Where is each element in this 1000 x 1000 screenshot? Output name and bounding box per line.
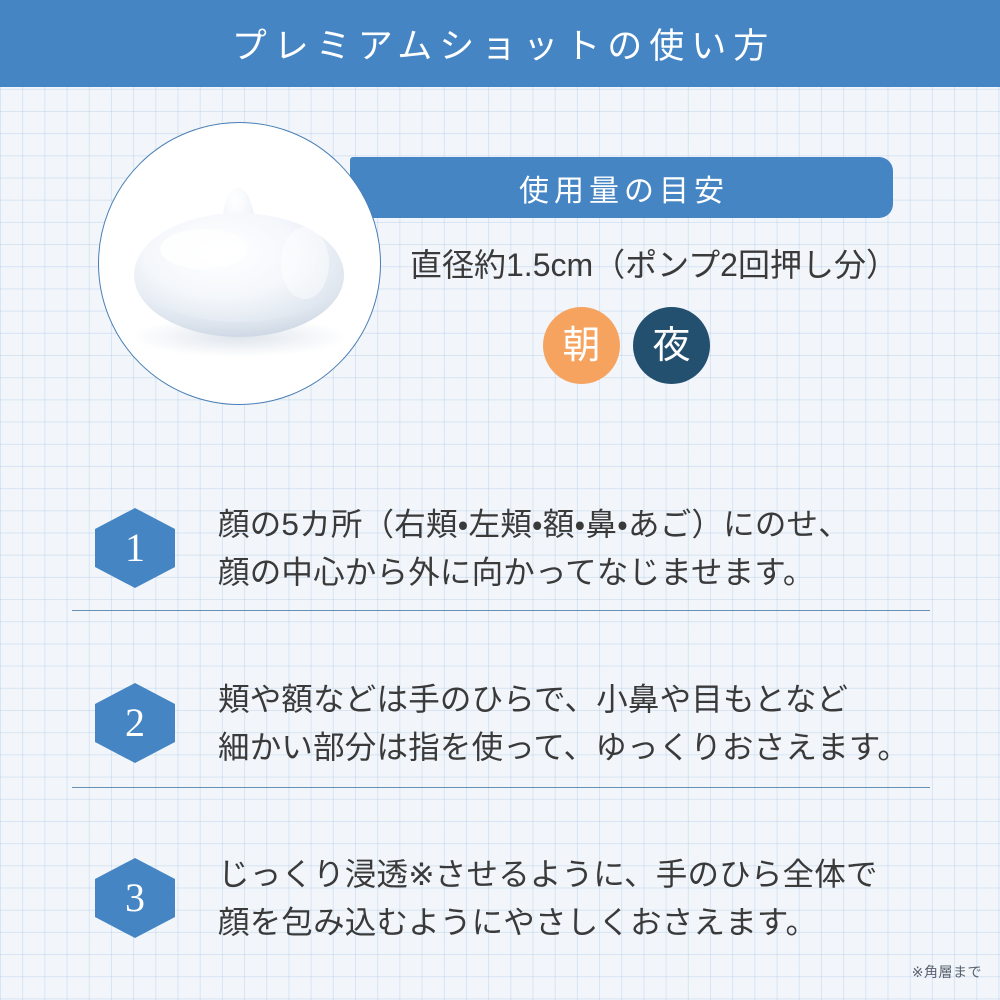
step-number: 3 <box>95 858 175 938</box>
dose-banner-title: 使用量の目安 <box>514 166 729 210</box>
dose-banner: 使用量の目安 <box>350 157 893 218</box>
dose-note: 直径約1.5cm（ポンプ2回押し分） <box>410 240 880 286</box>
cream-dollop-icon <box>99 123 380 404</box>
steps-list: 1 顔の5カ所（右頬・左頬・額・鼻・あご）にのせ、 顔の中心から外に向かってなじ… <box>0 460 1000 985</box>
step-number-hexagon-icon: 2 <box>95 683 175 763</box>
footnote: ※角層まで <box>912 962 982 982</box>
step-text: 頬や額などは手のひらで、小鼻や目もとなど 細かい部分は指を使って、ゆっくりおさえ… <box>218 675 909 771</box>
page-title: プレミアムショットの使い方 <box>225 18 776 69</box>
step-row: 2 頬や額などは手のひらで、小鼻や目もとなど 細かい部分は指を使って、ゆっくりお… <box>0 635 1000 810</box>
step-row: 1 顔の5カ所（右頬・左頬・額・鼻・あご）にのせ、 顔の中心から外に向かってなじ… <box>0 460 1000 635</box>
page-header: プレミアムショットの使い方 <box>0 0 1000 87</box>
badge-night: 夜 <box>633 307 710 384</box>
product-image-circle <box>98 122 381 405</box>
badge-night-label: 夜 <box>652 327 690 365</box>
step-row: 3 じっくり浸透※させるように、手のひら全体で 顔を包み込むようにやさしくおさえ… <box>0 810 1000 985</box>
step-number-hexagon-icon: 1 <box>95 508 175 588</box>
step-number-hexagon-icon: 3 <box>95 858 175 938</box>
badge-morning-label: 朝 <box>562 327 600 365</box>
step-divider <box>72 610 930 611</box>
badge-morning: 朝 <box>543 307 620 384</box>
step-divider <box>72 787 930 788</box>
step-number: 2 <box>95 683 175 763</box>
step-text: じっくり浸透※させるように、手のひら全体で 顔を包み込むようにやさしくおさえます… <box>218 850 878 946</box>
time-of-day-badges: 朝 夜 <box>543 307 710 384</box>
step-number: 1 <box>95 508 175 588</box>
step-text: 顔の5カ所（右頬・左頬・額・鼻・あご）にのせ、 顔の中心から外に向かってなじませ… <box>218 500 850 596</box>
infographic-page: プレミアムショットの使い方 使用量の目安 <box>0 0 1000 1000</box>
